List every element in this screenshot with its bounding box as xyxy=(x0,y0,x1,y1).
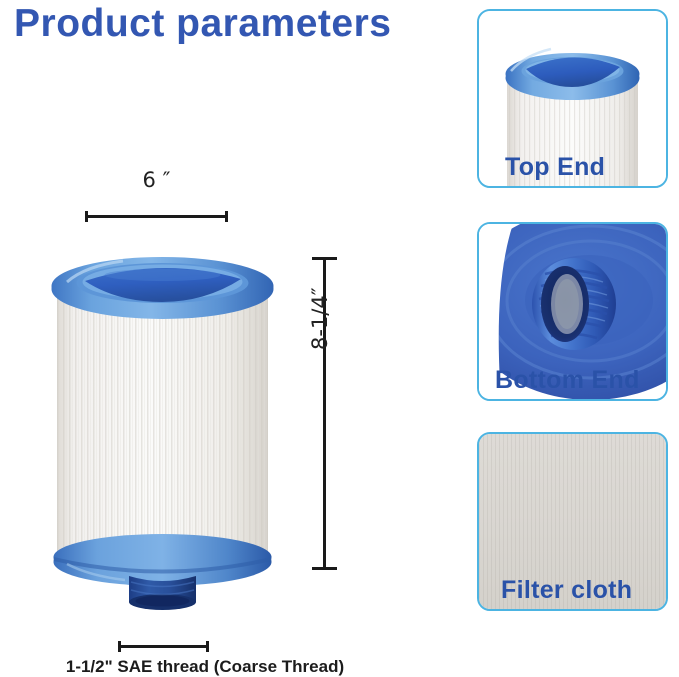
dimension-bar xyxy=(87,215,226,218)
panel-caption-bottom-end: Bottom End xyxy=(495,366,640,395)
product-diagram: 6 ″ 8-1/4″ 1-1/2" SAE thread (Coarse Thr… xyxy=(0,60,460,621)
thread-dimension-line xyxy=(118,641,209,652)
filter-cartridge-illustration xyxy=(45,252,280,612)
dimension-bar xyxy=(120,645,207,648)
panel-caption-filter-cloth: Filter cloth xyxy=(501,576,632,605)
panel-bottom-end: Bottom End xyxy=(477,222,668,401)
page-title: Product parameters xyxy=(14,2,391,46)
height-dimension-label: 8-1/4″ xyxy=(308,287,332,350)
panel-top-end: Top End xyxy=(477,9,668,188)
panel-caption-top-end: Top End xyxy=(505,153,605,182)
dimension-cap-right xyxy=(206,641,209,652)
width-dimension-label: 6 ″ xyxy=(85,168,228,192)
thread-caption: 1-1/2" SAE thread (Coarse Thread) xyxy=(0,657,410,677)
width-dimension-line xyxy=(85,211,228,222)
dimension-cap-right xyxy=(225,211,228,222)
dimension-cap-bottom xyxy=(312,567,337,570)
panel-filter-cloth: Filter cloth xyxy=(477,432,668,611)
